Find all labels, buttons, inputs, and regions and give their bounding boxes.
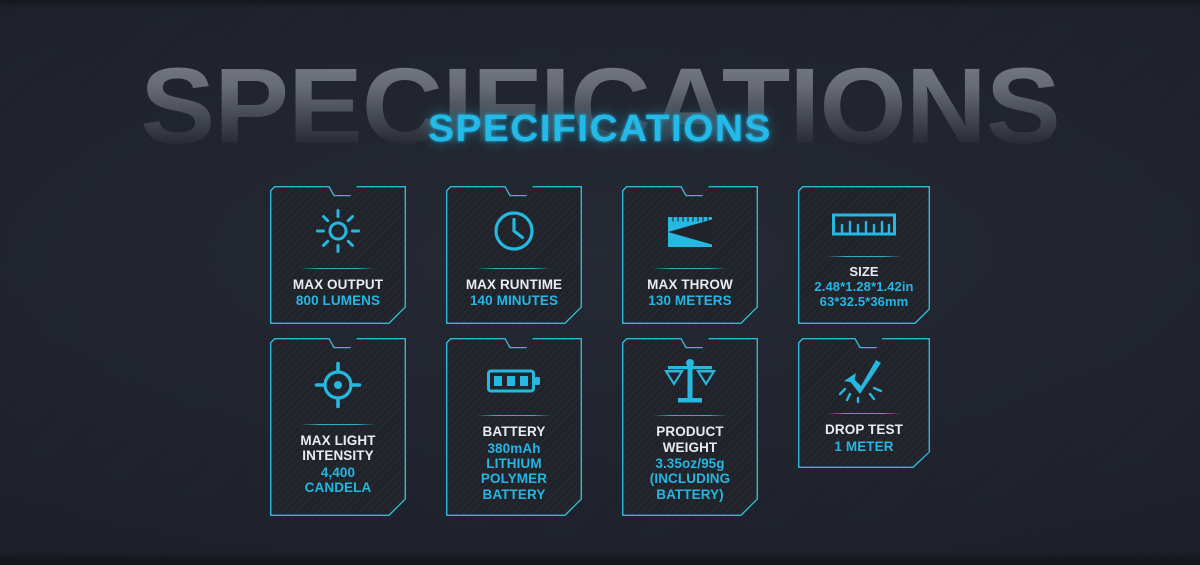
spec-row-1: MAX OUTPUT 800 LUMENS MAX RUNTIME xyxy=(270,186,930,324)
spec-value: 4,400 CANDELA xyxy=(305,465,372,496)
card-divider xyxy=(301,424,375,425)
spec-label: MAX LIGHT INTENSITY xyxy=(300,433,375,464)
card-divider xyxy=(301,268,375,269)
battery-icon xyxy=(486,354,542,407)
spec-card-product-weight[interactable]: PRODUCT WEIGHT 3.35oz/95g (INCLUDING BAT… xyxy=(622,338,758,516)
spec-label: MAX OUTPUT xyxy=(293,277,383,292)
page-header: SPECIFICATIONS SPECIFICATIONS xyxy=(0,52,1200,172)
beam-throw-icon xyxy=(665,202,715,260)
spec-label: MAX RUNTIME xyxy=(466,277,562,292)
card-divider xyxy=(827,256,901,257)
ruler-icon xyxy=(831,202,897,248)
spec-card-max-light-intensity[interactable]: MAX LIGHT INTENSITY 4,400 CANDELA xyxy=(270,338,406,516)
spec-card-max-throw[interactable]: MAX THROW 130 METERS xyxy=(622,186,758,324)
card-divider xyxy=(653,268,727,269)
spec-label: BATTERY xyxy=(483,424,546,439)
spec-card-battery[interactable]: BATTERY 380mAh LITHIUM POLYMER BATTERY xyxy=(446,338,582,516)
sun-icon xyxy=(315,202,361,260)
card-divider xyxy=(477,268,551,269)
specifications-page: SPECIFICATIONS SPECIFICATIONS xyxy=(0,0,1200,565)
scale-icon xyxy=(662,354,718,407)
spec-label: PRODUCT WEIGHT xyxy=(656,424,723,455)
spec-value: 140 MINUTES xyxy=(470,293,558,308)
spec-card-max-runtime[interactable]: MAX RUNTIME 140 MINUTES xyxy=(446,186,582,324)
spec-card-size[interactable]: SIZE 2.48*1.28*1.42in 63*32.5*36mm xyxy=(798,186,930,324)
clock-icon xyxy=(491,202,537,260)
spec-label: DROP TEST xyxy=(825,422,903,437)
spec-card-drop-test[interactable]: DROP TEST 1 METER xyxy=(798,338,930,468)
spec-row-2: MAX LIGHT INTENSITY 4,400 CANDELA xyxy=(270,338,930,516)
spec-card-max-output[interactable]: MAX OUTPUT 800 LUMENS xyxy=(270,186,406,324)
crosshair-icon xyxy=(313,354,363,416)
card-divider xyxy=(477,415,551,416)
spec-value: 130 METERS xyxy=(648,293,732,308)
page-title: SPECIFICATIONS xyxy=(0,108,1200,151)
spec-value: 800 LUMENS xyxy=(296,293,380,308)
spec-value: 3.35oz/95g (INCLUDING BATTERY) xyxy=(650,456,731,502)
spec-label: SIZE xyxy=(849,265,878,280)
spec-value: 2.48*1.28*1.42in 63*32.5*36mm xyxy=(814,280,913,310)
spec-value: 1 METER xyxy=(834,439,893,454)
card-divider xyxy=(653,415,727,416)
drop-test-icon xyxy=(836,354,892,405)
card-divider xyxy=(827,413,901,414)
spec-label: MAX THROW xyxy=(647,277,733,292)
spec-value: 380mAh LITHIUM POLYMER BATTERY xyxy=(481,441,547,503)
spec-grid: MAX OUTPUT 800 LUMENS MAX RUNTIME xyxy=(0,186,1200,516)
